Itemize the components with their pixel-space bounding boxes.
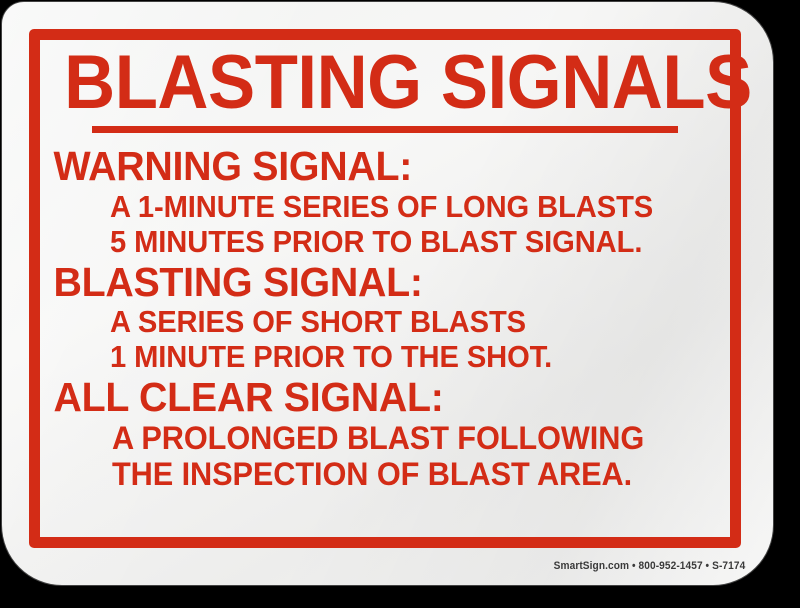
signal-sections: WARNING SIGNAL: A 1-MINUTE SERIES OF LON… (40, 145, 730, 492)
signal-section-blasting: BLASTING SIGNAL: A SERIES OF SHORT BLAST… (40, 261, 730, 374)
section-lines: A PROLONGED BLAST FOLLOWING THE INSPECTI… (40, 420, 730, 492)
sign-panel: BLASTING SIGNALS WARNING SIGNAL: A 1-MIN… (2, 2, 773, 585)
section-lines: A 1-MINUTE SERIES OF LONG BLASTS 5 MINUT… (40, 189, 730, 259)
section-line: 1 MINUTE PRIOR TO THE SHOT. (110, 339, 693, 374)
section-line: A PROLONGED BLAST FOLLOWING (112, 420, 705, 456)
section-heading: WARNING SIGNAL: (40, 145, 702, 188)
sign-image: BLASTING SIGNALS WARNING SIGNAL: A 1-MIN… (0, 0, 800, 608)
page-title: BLASTING SIGNALS (64, 47, 706, 118)
section-heading: ALL CLEAR SIGNAL: (40, 376, 702, 419)
section-heading: BLASTING SIGNAL: (40, 261, 702, 304)
signal-section-all-clear: ALL CLEAR SIGNAL: A PROLONGED BLAST FOLL… (40, 376, 730, 492)
manufacturer-credit: SmartSign.com • 800-952-1457 • S-7174 (553, 560, 745, 572)
section-lines: A SERIES OF SHORT BLASTS 1 MINUTE PRIOR … (40, 304, 730, 374)
sign-title-block: BLASTING SIGNALS (40, 40, 730, 133)
section-line: A 1-MINUTE SERIES OF LONG BLASTS (110, 189, 693, 224)
section-line: 5 MINUTES PRIOR TO BLAST SIGNAL. (110, 224, 693, 259)
title-underline-rule (92, 126, 678, 133)
sign-content: BLASTING SIGNALS WARNING SIGNAL: A 1-MIN… (40, 40, 730, 537)
signal-section-warning: WARNING SIGNAL: A 1-MINUTE SERIES OF LON… (40, 145, 730, 258)
section-line: THE INSPECTION OF BLAST AREA. (112, 456, 705, 492)
section-line: A SERIES OF SHORT BLASTS (110, 304, 693, 339)
